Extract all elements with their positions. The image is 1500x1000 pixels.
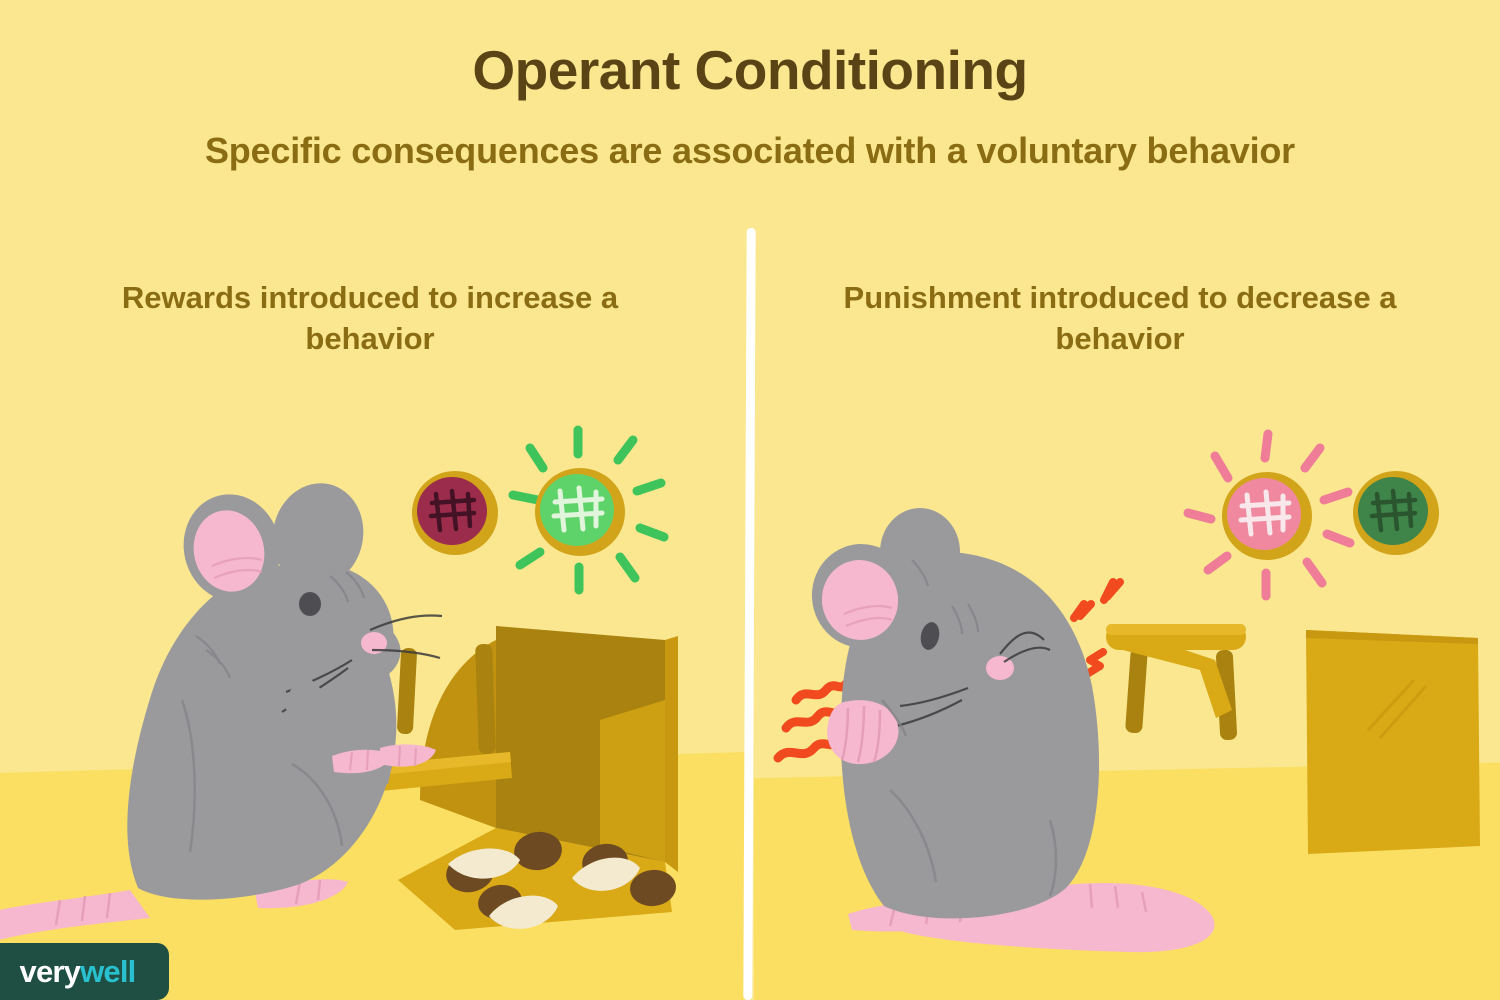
infographic-poster: Operant Conditioning Specific consequenc… [0,0,1500,1000]
indicator-light-on-right [1188,434,1350,596]
left-panel-heading: Rewards introduced to increase a behavio… [60,278,680,360]
mouse-right [804,508,1215,952]
logo-text-well: well [80,954,135,990]
right-panel-heading: Punishment introduced to decrease a beha… [800,278,1440,360]
verywell-logo: verywell [0,943,169,1000]
right-illustration [778,434,1480,952]
page-title: Operant Conditioning [0,38,1500,102]
indicator-light-off-left [412,471,498,555]
mouse-left [0,475,442,945]
indicator-light-on-left [513,430,664,590]
lever-right [1106,624,1246,740]
left-illustration [0,430,678,945]
page-subtitle: Specific consequences are associated wit… [0,130,1500,172]
logo-text-very: very [20,954,81,990]
shock-wall-panel [1306,630,1480,854]
indicator-light-off-right [1353,471,1439,555]
